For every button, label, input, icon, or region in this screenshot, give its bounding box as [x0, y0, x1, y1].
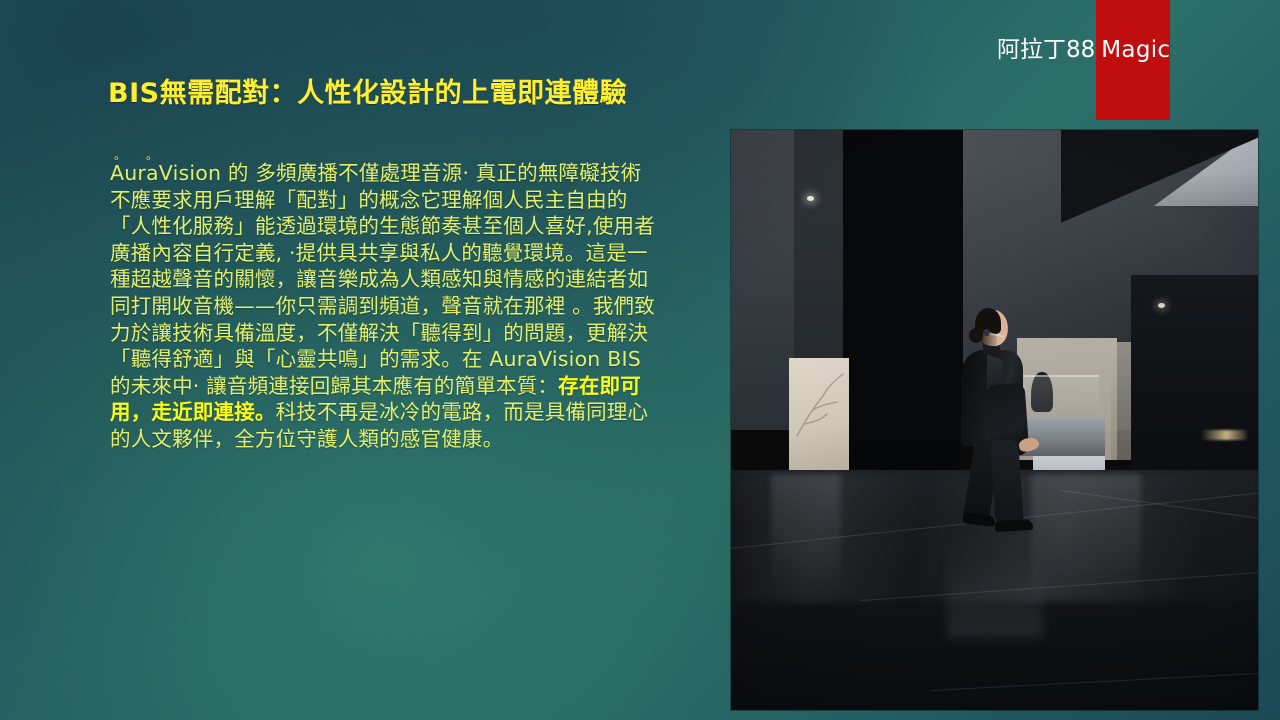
- page-title: BIS無需配對：人性化設計的上電即連體驗: [108, 71, 627, 110]
- lead-circle-marks: 。。: [114, 150, 662, 160]
- speaker-photo: [731, 130, 1258, 710]
- slide-root: 阿拉丁88Magic BIS無需配對：人性化設計的上電即連體驗 。。AuraVi…: [0, 0, 1280, 720]
- photo-vignette: [731, 130, 1258, 710]
- brand-name-en: Magic: [1101, 37, 1170, 63]
- body-segment-1: AuraVision 的 多頻廣播不僅處理音源· 真正的無障礙技術不應要求用戶理…: [110, 161, 655, 398]
- brand-logo-text: 阿拉丁88Magic: [997, 34, 1280, 66]
- photo-scene: [731, 130, 1258, 710]
- body-paragraph: 。。AuraVision 的 多頻廣播不僅處理音源· 真正的無障礙技術不應要求用…: [110, 150, 662, 453]
- brand-name-cn: 阿拉丁88: [997, 37, 1095, 63]
